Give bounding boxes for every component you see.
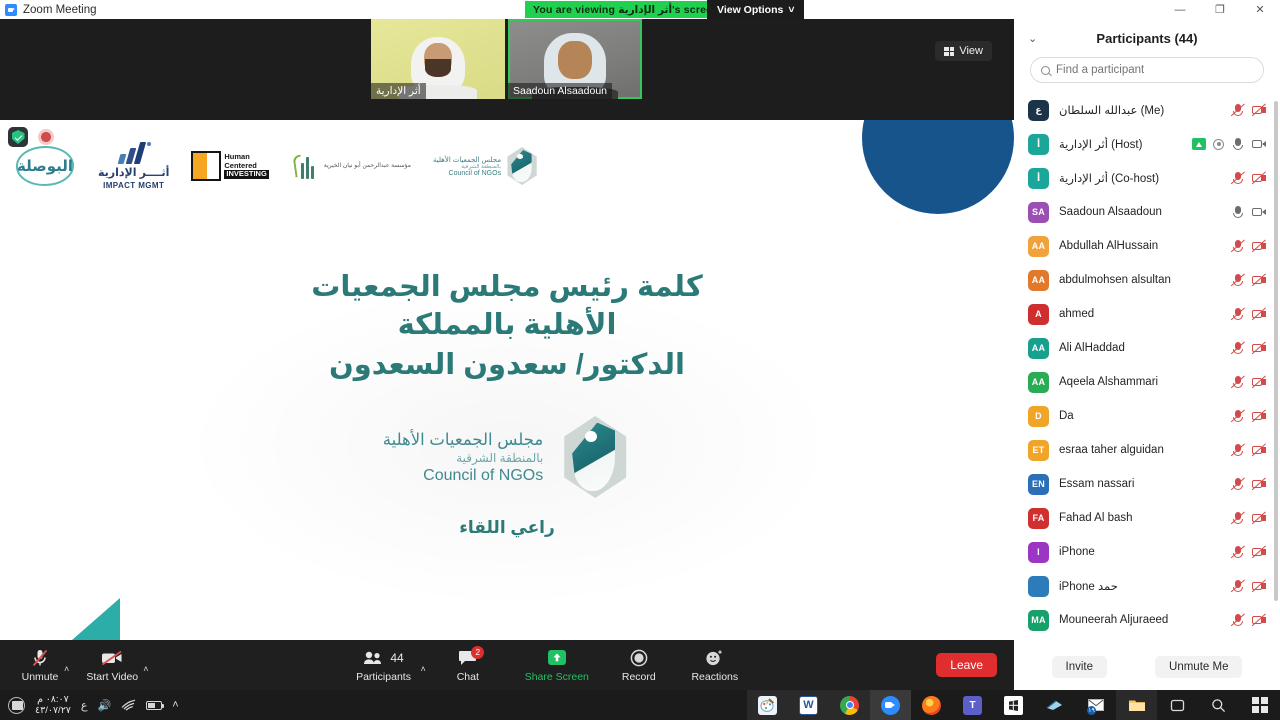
- search-icon: [1041, 66, 1050, 75]
- council-of-ngos-logo: مجلس الجمعيات الأهلية بالمنطقة الشرقية C…: [433, 147, 539, 185]
- participant-name: Mouneerah Aljuraeed: [1059, 614, 1221, 626]
- avatar: D: [1028, 406, 1049, 427]
- start-button-icon[interactable]: [1239, 690, 1280, 720]
- participants-panel-footer: Invite Unmute Me: [1014, 644, 1280, 690]
- microphone-muted-icon[interactable]: [1231, 342, 1245, 355]
- video-thumbnail[interactable]: Saadoun Alsaadoun: [508, 19, 642, 99]
- participant-status-icons: [1231, 546, 1266, 559]
- participant-row[interactable]: AAAli AlHaddad: [1014, 331, 1280, 365]
- video-off-icon[interactable]: [1252, 614, 1266, 627]
- microphone-muted-icon[interactable]: [1231, 580, 1245, 593]
- foundation-logo-text: مؤسسة عبدالرحمن أبو نيان الخيرية: [324, 162, 411, 170]
- video-off-icon[interactable]: [1252, 410, 1266, 423]
- avatar: I: [1028, 542, 1049, 563]
- participant-name: أثر الإدارية (Co-host): [1059, 171, 1221, 185]
- audio-settings-chevron-icon[interactable]: ˄: [64, 664, 69, 674]
- participant-status-icons: [1231, 614, 1266, 627]
- minimize-button[interactable]: —: [1160, 0, 1200, 19]
- meeting-toolbar: Unmute ˄ Start Video ˄: [0, 640, 1014, 690]
- participants-chevron-icon[interactable]: ˄: [421, 664, 426, 674]
- ngo-logo-english: Council of NGOs: [433, 170, 501, 177]
- view-button-label: View: [959, 45, 983, 57]
- video-off-icon[interactable]: [1252, 342, 1266, 355]
- microphone-muted-icon[interactable]: [1231, 614, 1245, 627]
- participant-row[interactable]: MAMouneerah Aljuraeed: [1014, 603, 1280, 637]
- search-taskbar-icon[interactable]: [1198, 690, 1239, 720]
- shared-slide: البوصلة أثــــر الإدارية IMPACT MGMT Hum…: [0, 120, 1014, 640]
- teams-taskbar-icon[interactable]: T: [952, 690, 993, 720]
- participant-name: Ali AlHaddad: [1059, 342, 1221, 354]
- reactions-button[interactable]: Reactions: [682, 642, 748, 688]
- video-icon[interactable]: [1252, 206, 1266, 219]
- slide-title-line1: كلمة رئيس مجلس الجمعيات: [311, 271, 702, 303]
- snip-tool-taskbar-icon[interactable]: [1034, 690, 1075, 720]
- participant-beard: [425, 59, 451, 77]
- participant-name: esraa taher alguidan: [1059, 444, 1221, 456]
- avatar: ع: [1028, 100, 1049, 121]
- avatar: أ: [1028, 134, 1049, 155]
- participant-name: ahmed: [1059, 308, 1221, 320]
- microphone-icon[interactable]: [1231, 138, 1245, 151]
- window-title-bar: Zoom Meeting You are viewing أثر الإداري…: [0, 0, 1280, 19]
- participant-row[interactable]: أأثر الإدارية (Co-host): [1014, 161, 1280, 195]
- participant-face: [558, 41, 592, 79]
- video-off-icon[interactable]: [1252, 308, 1266, 321]
- participant-status-icons: [1231, 512, 1266, 525]
- microphone-muted-icon: [32, 648, 48, 668]
- record-button[interactable]: Record: [614, 642, 664, 688]
- participant-status-icons: [1231, 444, 1266, 457]
- avatar: FA: [1028, 508, 1049, 529]
- firefox-taskbar-icon[interactable]: [911, 690, 952, 720]
- paint-taskbar-icon[interactable]: [747, 690, 788, 720]
- file-explorer-taskbar-icon[interactable]: [1116, 690, 1157, 720]
- notes-icon[interactable]: [8, 697, 25, 714]
- avatar: AA: [1028, 236, 1049, 257]
- video-off-icon[interactable]: [1252, 172, 1266, 185]
- video-off-icon[interactable]: [1252, 512, 1266, 525]
- sponsor-arabic1: مجلس الجمعيات الأهلية: [383, 430, 543, 450]
- zoom-icon: [5, 4, 17, 16]
- word-taskbar-icon[interactable]: W: [788, 690, 829, 720]
- tray-expand-icon[interactable]: ˄: [172, 699, 178, 711]
- participant-name: Saadoun Alsaadoun: [1059, 206, 1221, 218]
- video-icon[interactable]: [1252, 138, 1266, 151]
- participant-search-box[interactable]: [1030, 57, 1264, 83]
- participant-status-icons: [1231, 342, 1266, 355]
- reactions-icon: [705, 648, 724, 668]
- avatar: [1028, 576, 1049, 597]
- speaker-icon[interactable]: 🔊: [97, 699, 111, 712]
- foundation-logo: مؤسسة عبدالرحمن أبو نيان الخيرية: [291, 149, 411, 183]
- avatar: MA: [1028, 610, 1049, 631]
- participants-icon: 44: [363, 648, 403, 668]
- video-off-icon[interactable]: [1252, 274, 1266, 287]
- unmute-me-button[interactable]: Unmute Me: [1155, 656, 1242, 678]
- window-title: Zoom Meeting: [23, 4, 97, 16]
- participant-status-icons: [1231, 410, 1266, 423]
- taskbar-app-buttons: W T: [747, 690, 1280, 720]
- clock-time: ٠٨:٠٧ م: [35, 694, 71, 705]
- participant-status-icons: [1231, 172, 1266, 185]
- slide-decor-circle: [862, 120, 1014, 214]
- system-tray: ٠٨:٠٧ م ٤٣/٠٧/٢٧ ع 🔊 ˄: [0, 694, 179, 716]
- chat-button[interactable]: 2 Chat: [446, 642, 490, 688]
- share-screen-label: Share Screen: [525, 671, 589, 683]
- recording-indicator-icon: [38, 129, 54, 145]
- recording-badge-icon: [1213, 139, 1224, 150]
- microphone-muted-icon[interactable]: [1231, 512, 1245, 525]
- avatar: A: [1028, 304, 1049, 325]
- window-controls: — ❐ ✕: [1160, 0, 1280, 19]
- participants-count: 44: [390, 651, 403, 665]
- share-screen-icon: [546, 648, 568, 668]
- participant-name: iPhone حمد: [1059, 579, 1221, 593]
- participant-status-icons: [1192, 138, 1266, 151]
- participant-name: iPhone: [1059, 546, 1221, 558]
- ngo-logo-arabic1: مجلس الجمعيات الأهلية: [433, 156, 501, 164]
- zoom-taskbar-icon[interactable]: [870, 690, 911, 720]
- video-off-icon[interactable]: [1252, 376, 1266, 389]
- avatar: AA: [1028, 338, 1049, 359]
- clock-date: ٤٣/٠٧/٢٧: [35, 705, 71, 716]
- microphone-muted-icon[interactable]: [1231, 444, 1245, 457]
- avatar: AA: [1028, 372, 1049, 393]
- wifi-icon[interactable]: [121, 699, 136, 711]
- grid-view-icon: [944, 47, 954, 56]
- view-options-button[interactable]: View Options ˅: [707, 0, 804, 19]
- participant-status-icons: [1231, 376, 1266, 389]
- athar-logo-english: IMPACT MGMT: [103, 181, 164, 190]
- participant-status-icons: [1231, 206, 1266, 219]
- slide-title-line2: الأهلية بالمملكة: [398, 309, 617, 341]
- albusala-logo-text: البوصلة: [14, 142, 76, 190]
- participant-status-icons: [1231, 478, 1266, 491]
- participant-status-icons: [1231, 580, 1266, 593]
- thumbnail-name: أثر الإدارية: [371, 83, 426, 99]
- albusala-logo: البوصلة: [14, 142, 76, 190]
- taskbar-clock[interactable]: ٠٨:٠٧ م ٤٣/٠٧/٢٧: [35, 694, 71, 716]
- sharing-screen-badge-icon: [1192, 138, 1206, 150]
- slide-logo-strip: البوصلة أثــــر الإدارية IMPACT MGMT Hum…: [14, 142, 539, 190]
- participant-name: abdulmohsen alsultan: [1059, 274, 1221, 286]
- video-off-icon[interactable]: [1252, 444, 1266, 457]
- screen-share-banner: You are viewing أثر الإدارية's screen: [525, 1, 727, 18]
- sponsor-arabic2: بالمنطقة الشرقية: [383, 451, 543, 465]
- video-thumbnail[interactable]: أثر الإدارية: [371, 19, 505, 99]
- mail-taskbar-icon[interactable]: ١٩: [1075, 690, 1116, 720]
- microphone-muted-icon[interactable]: [1231, 478, 1245, 491]
- sponsor-hex-mark-icon: [559, 416, 631, 498]
- microphone-muted-icon[interactable]: [1231, 274, 1245, 287]
- meeting-status-badges: [8, 127, 54, 147]
- participant-row[interactable]: ETesraa taher alguidan: [1014, 433, 1280, 467]
- participant-row[interactable]: ععبدالله السلطان (Me): [1014, 93, 1280, 127]
- athar-logo-arabic: أثــــر الإدارية: [98, 166, 169, 179]
- participant-row[interactable]: SASaadoun Alsaadoun: [1014, 195, 1280, 229]
- participant-list[interactable]: ععبدالله السلطان (Me)أأثر الإدارية (Host…: [1014, 93, 1280, 644]
- record-icon: [630, 648, 648, 668]
- video-off-icon[interactable]: [1252, 478, 1266, 491]
- start-video-label: Start Video: [86, 671, 138, 683]
- participant-name: عبدالله السلطان (Me): [1059, 103, 1221, 117]
- participant-name: Da: [1059, 410, 1221, 422]
- avatar: أ: [1028, 168, 1049, 189]
- foundation-mark-icon: [291, 149, 321, 183]
- slide-title-line3: الدكتور/ سعدون السعدون: [0, 346, 1014, 384]
- participant-row[interactable]: AAAqeela Alshammari: [1014, 365, 1280, 399]
- unmute-label: Unmute: [22, 671, 59, 683]
- video-off-icon[interactable]: [1252, 580, 1266, 593]
- zoom-meeting-window: Zoom Meeting You are viewing أثر الإداري…: [0, 0, 1280, 720]
- hci-line3: INVESTING: [224, 170, 268, 179]
- athar-mark-icon: [117, 142, 151, 164]
- microphone-muted-icon[interactable]: [1231, 376, 1245, 389]
- participant-row[interactable]: FAFahad Al bash: [1014, 501, 1280, 535]
- avatar: ET: [1028, 440, 1049, 461]
- chrome-taskbar-icon[interactable]: [829, 690, 870, 720]
- participants-button[interactable]: 44 Participants: [349, 642, 419, 688]
- microphone-muted-icon[interactable]: [1231, 172, 1245, 185]
- microphone-muted-icon[interactable]: [1231, 546, 1245, 559]
- participants-panel-header: ⌄ Participants (44): [1014, 19, 1280, 57]
- participant-name: Abdullah AlHussain: [1059, 240, 1221, 252]
- participant-status-icons: [1231, 308, 1266, 321]
- panel-scrollbar[interactable]: [1274, 101, 1278, 601]
- task-view-icon[interactable]: [1157, 690, 1198, 720]
- avatar: EN: [1028, 474, 1049, 495]
- chat-unread-badge: 2: [471, 646, 484, 659]
- participant-row[interactable]: Aahmed: [1014, 297, 1280, 331]
- microphone-muted-icon[interactable]: [1231, 410, 1245, 423]
- chevron-down-icon[interactable]: ⌄: [1028, 32, 1037, 45]
- view-layout-button[interactable]: View: [935, 41, 992, 61]
- leave-button[interactable]: Leave: [936, 653, 997, 677]
- participants-label: Participants: [356, 671, 411, 683]
- participants-panel: ⌄ Participants (44) ععبدالله السلطان (Me…: [1014, 19, 1280, 690]
- avatar: SA: [1028, 202, 1049, 223]
- participant-row[interactable]: IiPhone: [1014, 535, 1280, 569]
- share-screen-button[interactable]: Share Screen: [518, 642, 596, 688]
- microphone-muted-icon[interactable]: [1231, 308, 1245, 321]
- ngo-hex-mark-icon: [505, 147, 539, 185]
- participant-name: Fahad Al bash: [1059, 512, 1221, 524]
- video-settings-chevron-icon[interactable]: ˄: [143, 664, 148, 674]
- participant-name: Essam nassari: [1059, 478, 1221, 490]
- microphone-muted-icon[interactable]: [1231, 240, 1245, 253]
- participant-status-icons: [1231, 240, 1266, 253]
- maximize-button[interactable]: ❐: [1200, 0, 1240, 19]
- unmute-button[interactable]: Unmute: [18, 642, 62, 688]
- participants-panel-title: Participants (44): [1014, 31, 1280, 46]
- participant-status-icons: [1231, 274, 1266, 287]
- video-thumbnail-strip: أثر الإدارية Saadoun Alsaadoun: [371, 19, 643, 99]
- hci-mark-icon: [191, 151, 221, 181]
- avatar: AA: [1028, 270, 1049, 291]
- participant-row[interactable]: DDa: [1014, 399, 1280, 433]
- athar-impact-mgmt-logo: أثــــر الإدارية IMPACT MGMT: [98, 142, 169, 190]
- participant-name: Aqeela Alshammari: [1059, 376, 1221, 388]
- invite-button[interactable]: Invite: [1052, 656, 1108, 678]
- battery-icon[interactable]: [146, 701, 162, 710]
- thumbnail-name: Saadoun Alsaadoun: [508, 83, 612, 99]
- language-indicator[interactable]: ع: [81, 699, 88, 712]
- participant-row[interactable]: أأثر الإدارية (Host): [1014, 127, 1280, 161]
- shared-screen-stage: أثر الإدارية Saadoun Alsaadoun View: [0, 19, 1014, 640]
- microphone-muted-icon[interactable]: [1231, 104, 1245, 117]
- microphone-icon[interactable]: [1231, 206, 1245, 219]
- participant-row[interactable]: AAabdulmohsen alsultan: [1014, 263, 1280, 297]
- microsoft-store-taskbar-icon[interactable]: [993, 690, 1034, 720]
- participant-row[interactable]: AAAbdullah AlHussain: [1014, 229, 1280, 263]
- shield-check-icon[interactable]: [8, 127, 28, 147]
- close-button[interactable]: ✕: [1240, 0, 1280, 19]
- human-centered-investing-logo: Human Centered INVESTING: [191, 151, 268, 181]
- slide-title: كلمة رئيس مجلس الجمعيات الأهلية بالمملكة…: [0, 268, 1014, 384]
- video-off-icon[interactable]: [1252, 546, 1266, 559]
- sponsor-english: Council of NGOs: [383, 467, 543, 485]
- search-input[interactable]: [1056, 64, 1253, 76]
- view-options-label: View Options: [717, 4, 783, 16]
- participant-status-icons: [1231, 104, 1266, 117]
- video-off-icon[interactable]: [1252, 240, 1266, 253]
- slide-sponsor-block: مجلس الجمعيات الأهلية بالمنطقة الشرقية C…: [0, 416, 1014, 538]
- windows-taskbar: ٠٨:٠٧ م ٤٣/٠٧/٢٧ ع 🔊 ˄: [0, 690, 1280, 720]
- reactions-label: Reactions: [691, 671, 738, 683]
- sponsor-caption: راعي اللقاء: [459, 518, 555, 538]
- participant-row[interactable]: ENEssam nassari: [1014, 467, 1280, 501]
- chat-icon: 2: [458, 648, 477, 668]
- slide-decor-triangle: [72, 598, 120, 640]
- record-label: Record: [622, 671, 656, 683]
- chat-label: Chat: [457, 671, 479, 683]
- video-off-icon[interactable]: [1252, 104, 1266, 117]
- participant-row[interactable]: iPhone حمد: [1014, 569, 1280, 603]
- participant-name: أثر الإدارية (Host): [1059, 137, 1182, 151]
- video-off-icon: [101, 648, 123, 668]
- start-video-button[interactable]: Start Video: [83, 642, 141, 688]
- chevron-down-icon: ˅: [788, 4, 794, 16]
